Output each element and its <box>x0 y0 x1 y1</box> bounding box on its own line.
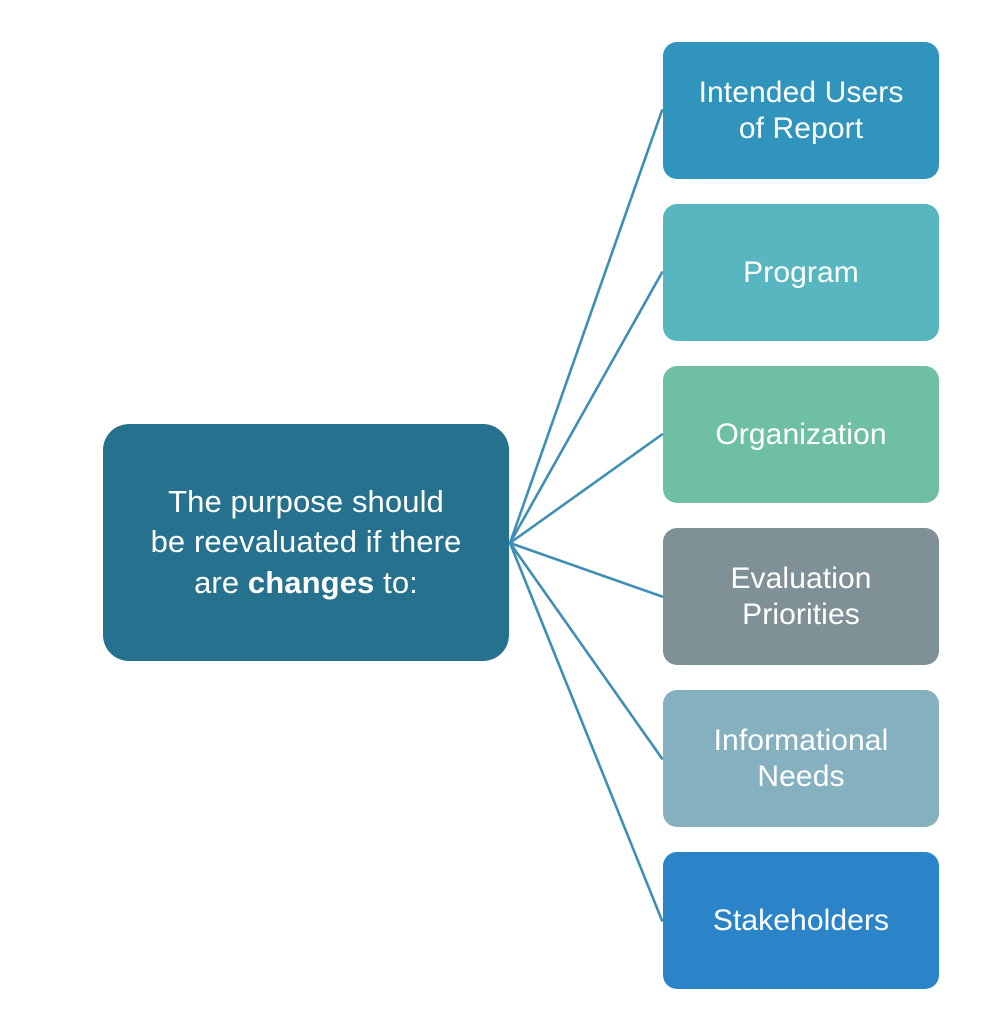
target-node-label: Stakeholders <box>713 903 889 938</box>
connector-line-5 <box>510 543 662 921</box>
connector-line-3 <box>510 543 662 597</box>
target-node-organization: Organization <box>663 366 939 503</box>
diagram-canvas: The purpose should be reevaluated if the… <box>0 0 1005 1024</box>
target-node-label: Program <box>743 255 859 290</box>
connector-line-4 <box>510 543 662 759</box>
source-node-line-3-prefix: are <box>194 565 248 600</box>
target-node-informational-needs: Informational Needs <box>663 690 939 827</box>
target-node-line-2: of Report <box>739 112 863 145</box>
target-node-line-1: Evaluation <box>730 562 871 595</box>
target-node-line-2: Priorities <box>742 598 860 631</box>
source-node-line-2: be reevaluated if there <box>151 524 462 559</box>
connector-line-2 <box>510 435 662 544</box>
source-node-label: The purpose should be reevaluated if the… <box>151 482 462 603</box>
source-node-line-3-suffix: to: <box>374 565 417 600</box>
target-node-evaluation-priorities: Evaluation Priorities <box>663 528 939 665</box>
target-node-program: Program <box>663 204 939 341</box>
target-node-line-1: Informational <box>714 724 889 757</box>
target-node-label: Evaluation Priorities <box>730 561 871 632</box>
target-node-label: Intended Users of Report <box>699 75 904 146</box>
target-node-line-2: Needs <box>757 760 844 793</box>
target-node-line-1: Intended Users <box>699 76 904 109</box>
source-node-line-1: The purpose should <box>168 484 444 519</box>
source-node-emphasis-changes: changes <box>248 565 374 600</box>
target-node-label: Informational Needs <box>714 723 889 794</box>
source-node-purpose-statement: The purpose should be reevaluated if the… <box>103 424 509 661</box>
target-node-intended-users-of-report: Intended Users of Report <box>663 42 939 179</box>
connector-line-0 <box>510 111 662 544</box>
target-node-label: Organization <box>715 417 886 452</box>
connector-line-1 <box>510 273 662 544</box>
target-node-stakeholders: Stakeholders <box>663 852 939 989</box>
